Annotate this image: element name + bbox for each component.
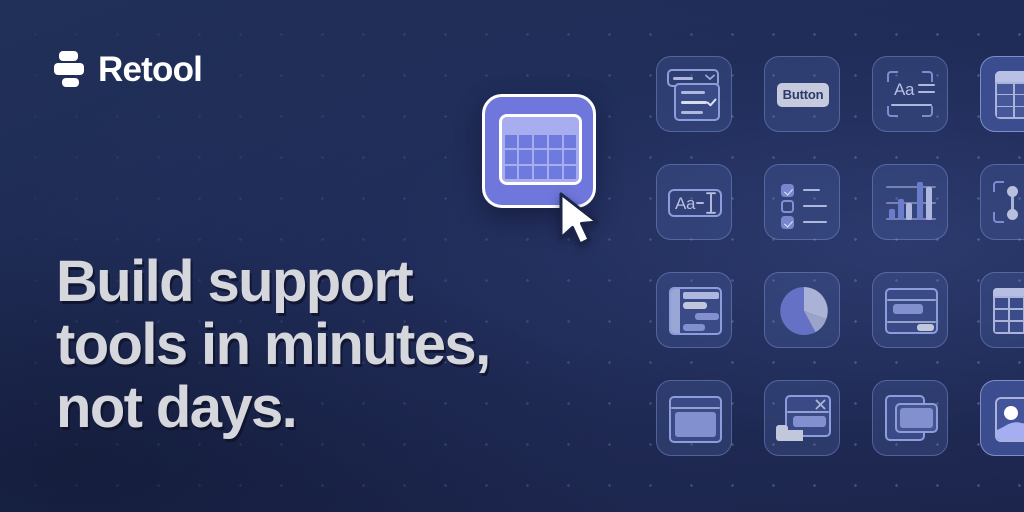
button-icon-label: Button — [777, 83, 829, 107]
headline-line-1: Build support — [56, 250, 576, 313]
table-grid-icon — [981, 273, 1024, 347]
text-icon-label: Aa — [894, 80, 914, 100]
component-tile-image[interactable] — [980, 380, 1024, 456]
component-tile-text[interactable]: Aa — [872, 56, 948, 132]
card-form-icon — [873, 273, 947, 347]
bar-chart-icon — [873, 165, 947, 239]
component-tile-modal[interactable] — [764, 380, 840, 456]
component-tile-form[interactable] — [656, 272, 732, 348]
headline-line-3: not days. — [56, 376, 576, 439]
table-icon — [981, 57, 1024, 131]
component-tile-button[interactable]: Button — [764, 56, 840, 132]
button-icon: Button — [765, 57, 839, 131]
pie-chart-icon — [765, 273, 839, 347]
component-tile-table-grid[interactable] — [980, 272, 1024, 348]
text-input-icon: Aa — [657, 165, 731, 239]
dropdown-icon — [657, 57, 731, 131]
component-icon-grid: Button Aa — [656, 56, 1024, 456]
text-aa-icon: Aa — [873, 57, 947, 131]
close-icon — [815, 399, 826, 410]
component-tile-container[interactable] — [656, 380, 732, 456]
stacked-panels-icon — [873, 381, 947, 455]
retool-wordmark: Retool — [98, 52, 202, 87]
table-icon — [499, 114, 582, 185]
component-tile-checkbox[interactable] — [764, 164, 840, 240]
text-input-icon-label: Aa — [675, 194, 695, 214]
component-tile-text-input[interactable]: Aa — [656, 164, 732, 240]
table-header-row — [502, 117, 579, 132]
headline-line-2: tools in minutes, — [56, 313, 576, 376]
table-body-grid — [502, 132, 579, 182]
retool-logo-mark-icon — [54, 50, 84, 88]
page-title: Build support tools in minutes, not days… — [56, 250, 576, 440]
checkbox-list-icon — [765, 165, 839, 239]
selected-table-component-card[interactable] — [482, 94, 596, 208]
form-panel-icon — [657, 273, 731, 347]
component-tile-table[interactable] — [980, 56, 1024, 132]
component-tile-timeline[interactable] — [980, 164, 1024, 240]
hero-banner: Retool Build support tools in minutes, n… — [0, 0, 1024, 512]
container-icon — [657, 381, 731, 455]
timeline-icon — [981, 165, 1024, 239]
mouse-pointer-icon[interactable] — [557, 192, 601, 248]
image-icon — [981, 381, 1024, 455]
component-tile-tabs[interactable] — [872, 380, 948, 456]
retool-logo[interactable]: Retool — [54, 50, 202, 88]
component-tile-bar-chart[interactable] — [872, 164, 948, 240]
component-tile-pie-chart[interactable] — [764, 272, 840, 348]
modal-icon — [765, 381, 839, 455]
component-tile-card[interactable] — [872, 272, 948, 348]
component-tile-select[interactable] — [656, 56, 732, 132]
